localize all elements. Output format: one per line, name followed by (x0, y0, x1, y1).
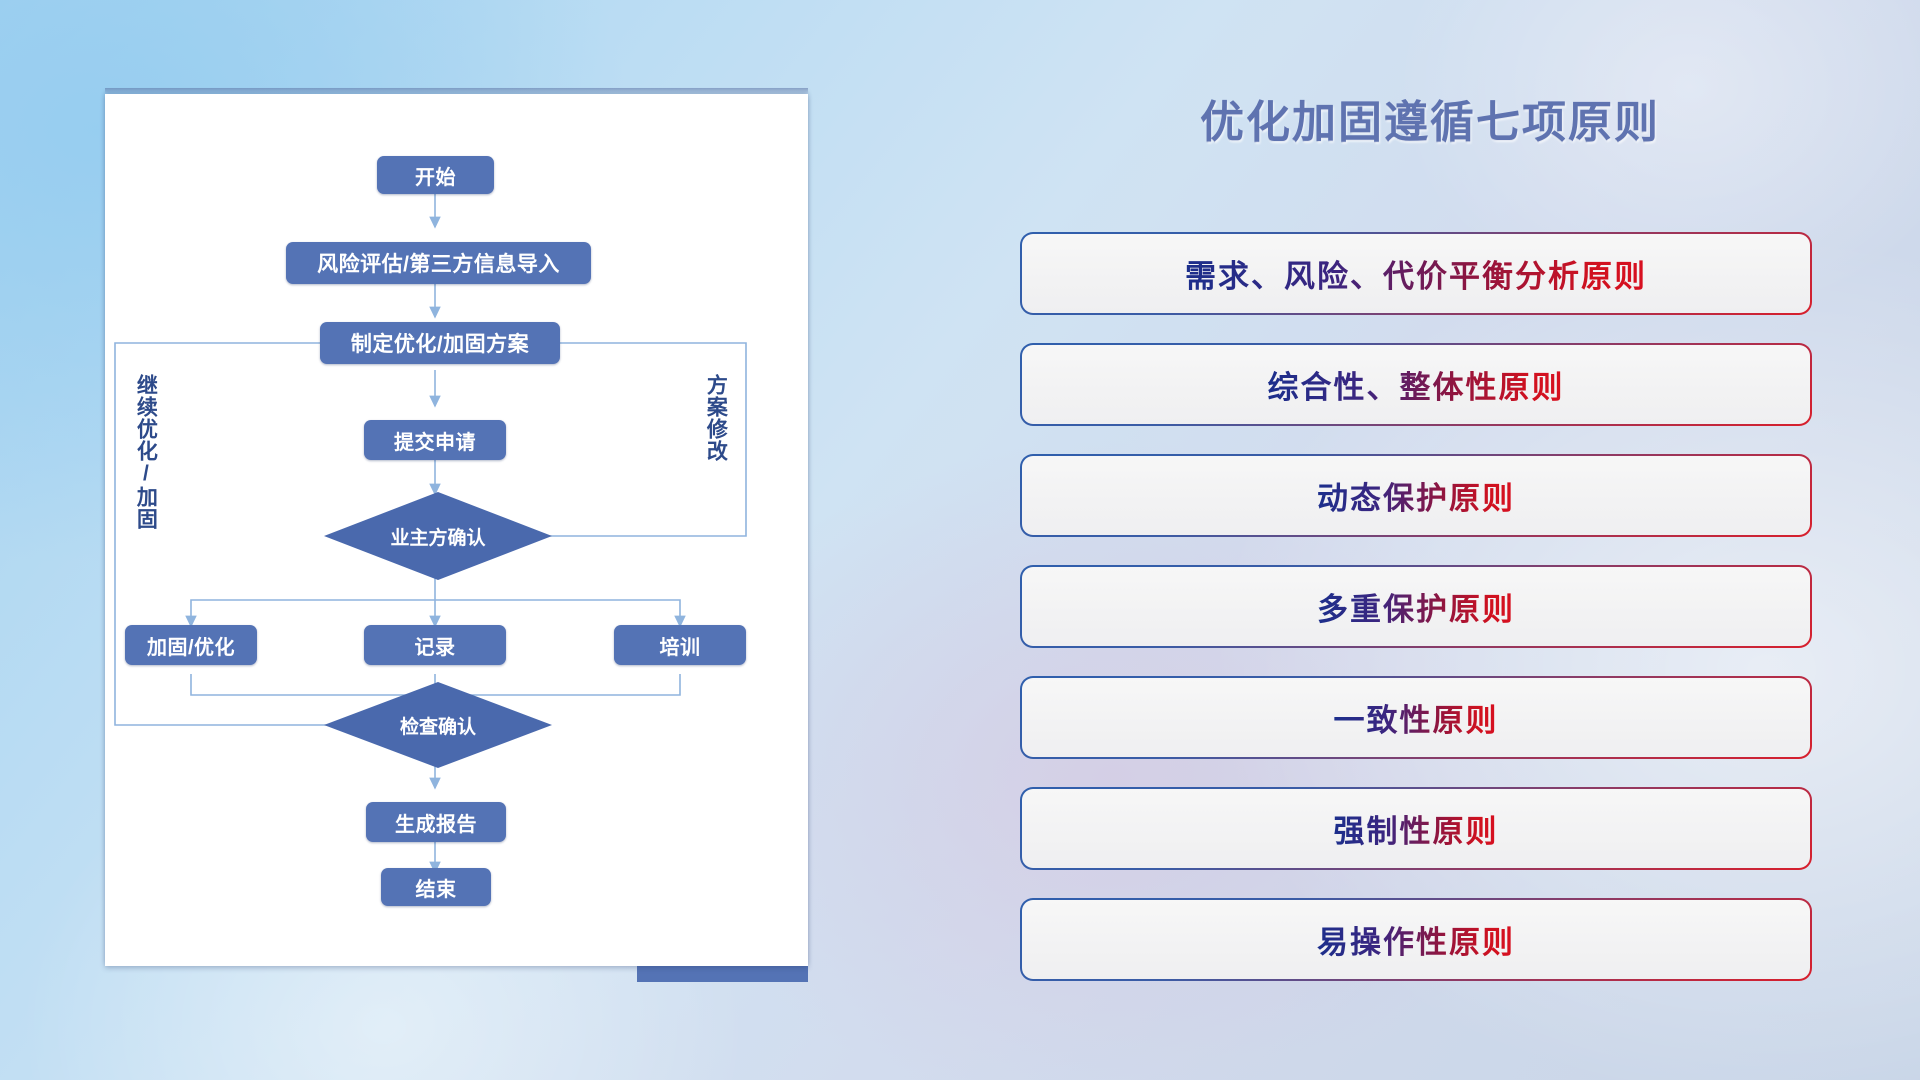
flow-node-risk-assessment-label: 风险评估/第三方信息导入 (317, 248, 560, 278)
flow-node-report[interactable]: 生成报告 (366, 802, 506, 842)
principle-item-4-body: 多重保护原则 (1022, 567, 1810, 646)
flow-node-reinforce-label: 加固/优化 (147, 631, 235, 660)
principle-item-3-body: 动态保护原则 (1022, 456, 1810, 535)
principle-item-2[interactable]: 综合性、整体性原则 (1020, 343, 1812, 426)
flow-node-reinforce[interactable]: 加固/优化 (125, 625, 257, 665)
flow-edge-label-left: 继续优化/加固 (135, 374, 156, 530)
principle-item-6-body: 强制性原则 (1022, 789, 1810, 868)
principle-item-5[interactable]: 一致性原则 (1020, 676, 1812, 759)
flowchart-card: 开始 风险评估/第三方信息导入 制定优化/加固方案 提交申请 业主方确认 加固/… (105, 94, 808, 966)
flow-node-check-confirm[interactable]: 检查确认 (324, 682, 552, 768)
flow-node-submit-label: 提交申请 (394, 426, 476, 455)
flow-node-training-label: 培训 (660, 631, 701, 660)
flow-node-end[interactable]: 结束 (381, 868, 491, 906)
principle-item-3-label: 动态保护原则 (1317, 473, 1515, 518)
flow-node-training[interactable]: 培训 (614, 625, 746, 665)
flow-node-start[interactable]: 开始 (377, 156, 494, 194)
flow-edge-label-right: 方案修改 (705, 374, 726, 462)
principle-item-1[interactable]: 需求、风险、代价平衡分析原则 (1020, 232, 1812, 315)
flow-node-plan[interactable]: 制定优化/加固方案 (320, 322, 560, 364)
principle-item-5-label: 一致性原则 (1334, 695, 1499, 740)
principle-item-4[interactable]: 多重保护原则 (1020, 565, 1812, 648)
flow-node-record-label: 记录 (415, 631, 456, 660)
principle-item-3[interactable]: 动态保护原则 (1020, 454, 1812, 537)
principle-item-4-label: 多重保护原则 (1317, 584, 1515, 629)
principle-item-2-body: 综合性、整体性原则 (1022, 345, 1810, 424)
principle-item-7-label: 易操作性原则 (1317, 917, 1515, 962)
principle-item-7[interactable]: 易操作性原则 (1020, 898, 1812, 981)
principle-item-6-label: 强制性原则 (1334, 806, 1499, 851)
principle-item-1-body: 需求、风险、代价平衡分析原则 (1022, 234, 1810, 313)
principle-item-2-label: 综合性、整体性原则 (1268, 362, 1565, 407)
principles-panel: 优化加固遵循七项原则 需求、风险、代价平衡分析原则 综合性、整体性原则 动态保护… (1020, 86, 1840, 1006)
flow-node-submit[interactable]: 提交申请 (364, 420, 506, 460)
principle-item-1-label: 需求、风险、代价平衡分析原则 (1185, 251, 1647, 296)
principle-item-5-body: 一致性原则 (1022, 678, 1810, 757)
flow-node-owner-confirm[interactable]: 业主方确认 (324, 492, 552, 580)
flow-node-record[interactable]: 记录 (364, 625, 506, 665)
flow-node-check-confirm-label: 检查确认 (400, 712, 476, 739)
flow-node-owner-confirm-label: 业主方确认 (390, 523, 485, 550)
flow-node-end-label: 结束 (416, 873, 457, 902)
flow-node-risk-assessment[interactable]: 风险评估/第三方信息导入 (286, 242, 591, 284)
flow-node-plan-label: 制定优化/加固方案 (351, 328, 529, 358)
principle-item-7-body: 易操作性原则 (1022, 900, 1810, 979)
principle-item-6[interactable]: 强制性原则 (1020, 787, 1812, 870)
flow-node-report-label: 生成报告 (395, 808, 477, 837)
panel-title: 优化加固遵循七项原则 (1020, 86, 1840, 150)
flow-node-start-label: 开始 (415, 161, 456, 190)
